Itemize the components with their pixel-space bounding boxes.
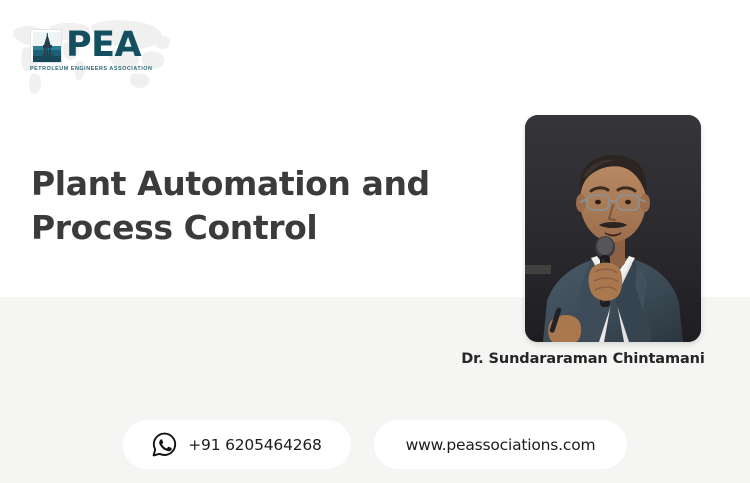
logo-wordmark: PEA [66, 28, 141, 63]
contact-website-pill[interactable]: www.peassociations.com [374, 420, 627, 469]
poster-canvas: PEA PETROLEUM ENGINEERS ASSOCIATION Plan… [0, 0, 750, 483]
logo-tagline: PETROLEUM ENGINEERS ASSOCIATION [30, 66, 152, 72]
page-title: Plant Automation and Process Control [31, 162, 481, 250]
whatsapp-icon [152, 432, 177, 457]
contact-phone-pill[interactable]: +91 6205464268 [123, 420, 351, 469]
offshore-oil-rig-icon [30, 29, 62, 63]
title-line-1: Plant Automation and [31, 162, 481, 206]
title-line-2: Process Control [31, 206, 481, 250]
speaker-name: Dr. Sundararaman Chintamani [432, 351, 734, 367]
website-url-label: www.peassociations.com [406, 436, 596, 454]
pea-logo: PEA PETROLEUM ENGINEERS ASSOCIATION [30, 28, 155, 80]
logo-row: PEA [30, 28, 155, 63]
phone-number-label: +91 6205464268 [188, 436, 321, 454]
speaker-photo [525, 115, 701, 342]
